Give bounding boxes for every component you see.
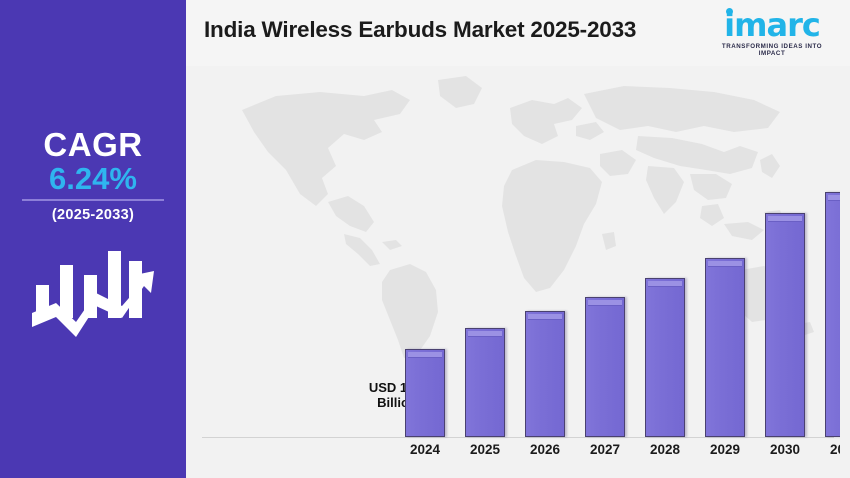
bar-2029[interactable] <box>705 258 745 437</box>
imarc-logo: imarc TRANSFORMING IDEAS INTO IMPACT <box>708 8 836 57</box>
chart-content: India Wireless Earbuds Market 2025-2033 … <box>186 0 850 478</box>
cagr-label: CAGR <box>43 128 142 161</box>
cagr-divider <box>22 199 164 201</box>
bar-2026[interactable] <box>525 311 565 437</box>
bar-top-face <box>528 314 562 320</box>
cagr-panel: CAGR 6.24% (2025-2033) <box>0 0 186 478</box>
page-title: India Wireless Earbuds Market 2025-2033 <box>204 17 636 43</box>
bar-top-face <box>648 281 682 287</box>
xtick-2031: 2031 <box>815 442 840 457</box>
logo-dot-icon <box>726 8 733 15</box>
bar-2030[interactable] <box>765 213 805 437</box>
chart-header: India Wireless Earbuds Market 2025-2033 … <box>186 0 850 66</box>
xtick-2029: 2029 <box>695 442 755 457</box>
bar-top-face <box>588 300 622 306</box>
market-chart-infographic: CAGR 6.24% (2025-2033) India Wireless Ea… <box>0 0 850 478</box>
axis-baseline <box>202 437 834 438</box>
bars-layer: USD 1.04 Billion USD 1.80 Billion 2024 2… <box>196 66 840 464</box>
bar-2031[interactable] <box>825 192 840 437</box>
xtick-2026: 2026 <box>515 442 575 457</box>
bar-2027[interactable] <box>585 297 625 437</box>
bar-top-face <box>708 261 742 267</box>
bar-top-face <box>828 195 840 201</box>
bar-top-face <box>408 352 442 358</box>
xtick-2028: 2028 <box>635 442 695 457</box>
xtick-2025: 2025 <box>455 442 515 457</box>
growth-bar-arrow-icon <box>30 249 156 350</box>
xtick-2027: 2027 <box>575 442 635 457</box>
bar-2024[interactable] <box>405 349 445 437</box>
cagr-value: 6.24% <box>49 163 137 196</box>
logo-tagline: TRANSFORMING IDEAS INTO IMPACT <box>708 43 836 57</box>
plot-area: USD 1.04 Billion USD 1.80 Billion 2024 2… <box>196 66 840 464</box>
cagr-period: (2025-2033) <box>52 207 134 223</box>
bar-2025[interactable] <box>465 328 505 437</box>
xtick-2024: 2024 <box>395 442 455 457</box>
bar-top-face <box>768 216 802 222</box>
bar-top-face <box>468 331 502 337</box>
xtick-2030: 2030 <box>755 442 815 457</box>
bar-2028[interactable] <box>645 278 685 437</box>
